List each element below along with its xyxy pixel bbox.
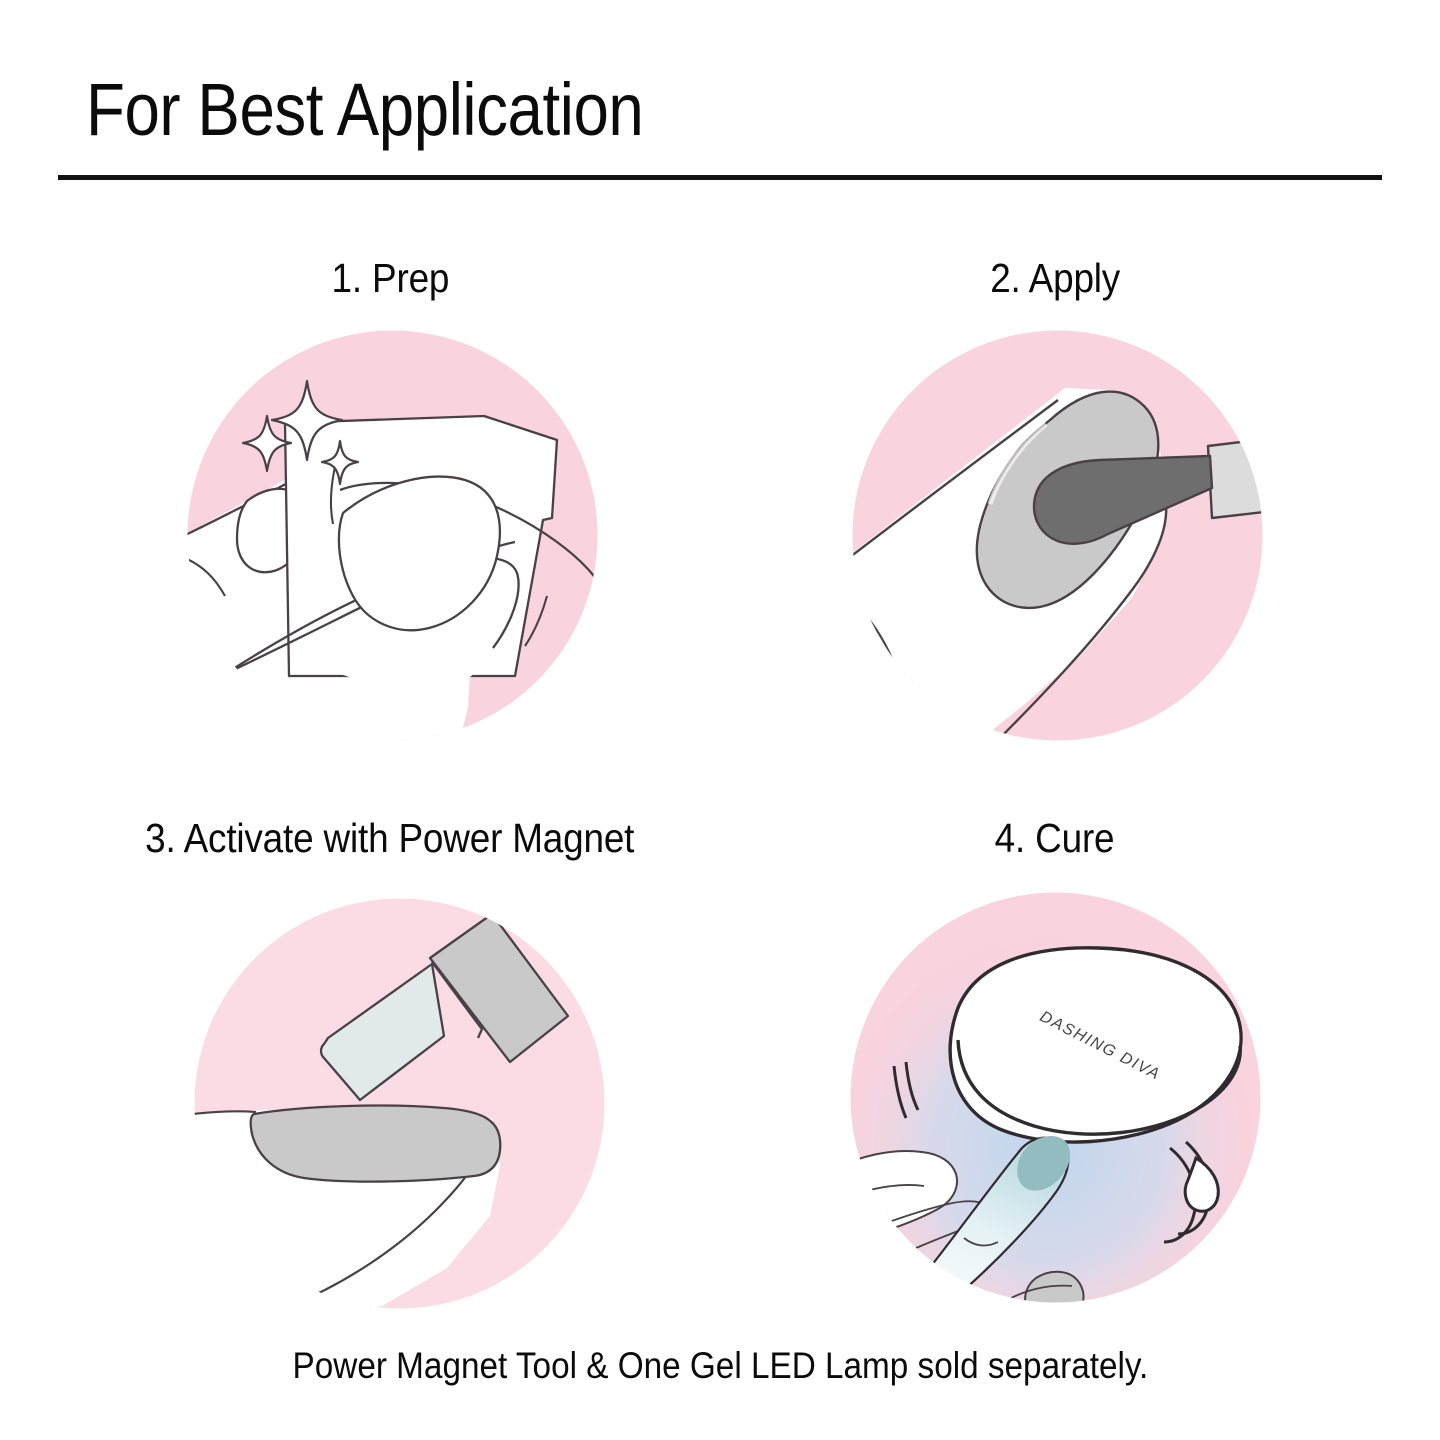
step-label-activate: 3. Activate with Power Magnet	[60, 812, 720, 864]
illustration-cure: DASHING DIVA	[848, 890, 1263, 1305]
title-divider	[58, 175, 1382, 180]
step-card-cure: 4. Cure	[725, 800, 1385, 1360]
footer-disclaimer: Power Magnet Tool & One Gel LED Lamp sol…	[0, 1342, 1440, 1390]
illustration-apply	[850, 328, 1265, 743]
step-card-prep: 1. Prep	[60, 240, 720, 800]
step-label-apply-text: 2. Apply	[990, 252, 1120, 304]
step-label-apply: 2. Apply	[725, 252, 1385, 304]
step-card-activate: 3. Activate with Power Magnet	[60, 800, 720, 1360]
page-title: For Best Application	[86, 68, 643, 152]
page-header: For Best Application	[0, 0, 1440, 200]
step-label-cure-text: 4. Cure	[995, 812, 1115, 864]
step-label-cure: 4. Cure	[725, 812, 1385, 864]
illustration-activate	[192, 896, 607, 1311]
step-label-prep-text: 1. Prep	[331, 252, 449, 304]
step-card-apply: 2. Apply	[725, 240, 1385, 800]
illustration-prep	[185, 328, 600, 743]
step-label-activate-text: 3. Activate with Power Magnet	[145, 812, 634, 864]
step-label-prep: 1. Prep	[60, 252, 720, 304]
footer-disclaimer-text: Power Magnet Tool & One Gel LED Lamp sol…	[292, 1342, 1148, 1390]
